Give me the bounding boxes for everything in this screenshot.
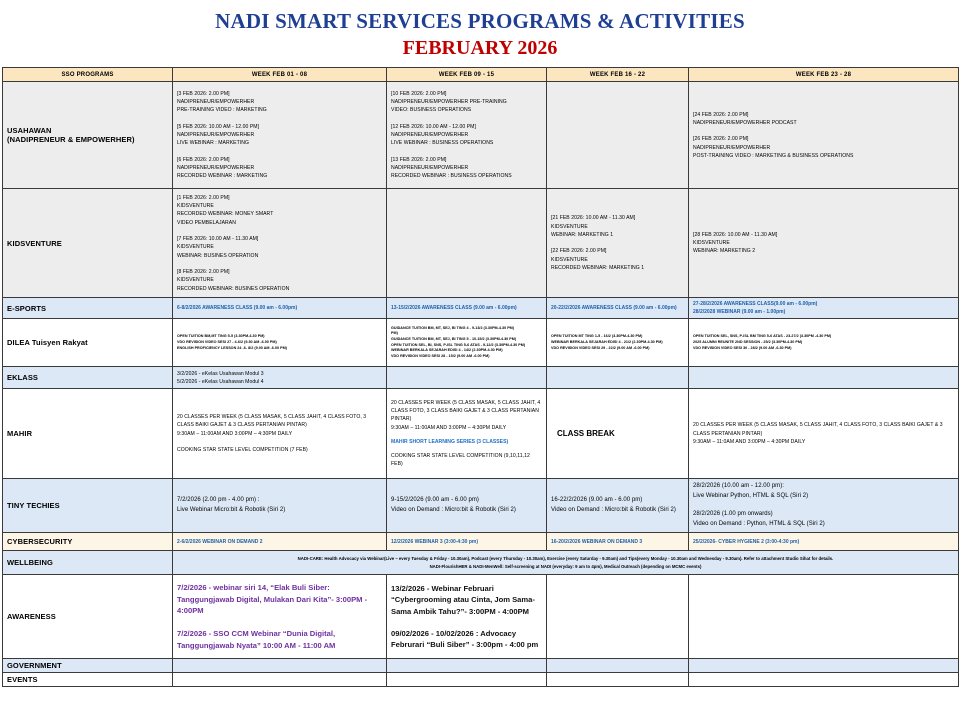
col-header-week-3: WEEK FEB 16 - 22	[547, 68, 689, 82]
cell-cybersecurity-week2: 12/2/2026 WEBINAR 3 (3:00-4:30 pm)	[387, 533, 547, 551]
table-row-dilea: DILEA Tuisyen Rakyat OPEN TUITION BM,MT …	[3, 319, 959, 367]
cell-dilea-week1: OPEN TUITION BM,MT TING 5-5 (3.30PM-4.30…	[173, 319, 387, 367]
cell-kidsventure-week4: [28 FEB 2026: 10.00 AM - 11.30 AM] KIDSV…	[689, 189, 959, 298]
cell-text: 12/2/2026 WEBINAR 3 (3:00-4:30 pm)	[391, 538, 542, 546]
table-row-kidsventure: KIDSVENTURE [1 FEB 2026: 2.00 PM] KIDSVE…	[3, 189, 959, 298]
activities-table: SSO PROGRAMS WEEK FEB 01 - 08 WEEK FEB 0…	[2, 67, 959, 687]
cell-tiny-techies-week3: 16-22/2/2026 (9.00 am - 6.00 pm) Video o…	[547, 479, 689, 533]
cell-text: [28 FEB 2026: 10.00 AM - 11.30 AM] KIDSV…	[693, 231, 954, 256]
cell-events-week2	[387, 673, 547, 687]
program-label-cybersecurity: CYBERSECURITY	[3, 533, 173, 551]
program-name-line2: (NADIPRENEUR & EMPOWERHER)	[7, 135, 168, 144]
cell-text: [21 FEB 2026: 10.00 AM - 11.30 AM] KIDSV…	[551, 214, 684, 272]
table-row-esports: E-SPORTS 6-8/2/2026 AWARENESS CLASS (9.0…	[3, 298, 959, 319]
cell-text: 25/2/2026- CYBER HYGIENE 2 (3:00-4:30 pm…	[693, 538, 954, 546]
cell-text: PM) GUIDANCE TUITION BM, MT, SEJ, BI TIN…	[391, 331, 542, 360]
schedule-page: NADI SMART SERVICES PROGRAMS & ACTIVITIE…	[0, 0, 960, 720]
cell-text-b: 7/2/2026 - SSO CCM Webinar “Dunia Digita…	[177, 628, 382, 652]
cell-mahir-week1: 20 CLASSES PER WEEK (5 CLASS MASAK, 5 CL…	[173, 389, 387, 479]
cell-eklass-week3	[547, 367, 689, 389]
program-label-government: GOVERNMENT	[3, 659, 173, 673]
page-title: NADI SMART SERVICES PROGRAMS & ACTIVITIE…	[0, 8, 960, 34]
page-subtitle: FEBRUARY 2026	[0, 35, 960, 61]
cell-cybersecurity-week1: 2-6/2/2026 WEBINAR ON DEMAND 2	[173, 533, 387, 551]
cell-usahawan-week2: [10 FEB 2026: 2.00 PM] NADIPRENEUR/EMPOW…	[387, 82, 547, 189]
cell-government-week1	[173, 659, 387, 673]
program-label-usahawan: USAHAWAN (NADIPRENEUR & EMPOWERHER)	[3, 82, 173, 189]
program-label-eklass: EKLASS	[3, 367, 173, 389]
cell-text-b: 09/02/2026 - 10/02/2026 : Advocacy Febru…	[391, 628, 542, 651]
cell-text: [10 FEB 2026: 2.00 PM] NADIPRENEUR/EMPOW…	[391, 90, 542, 181]
program-label-mahir: MAHIR	[3, 389, 173, 479]
program-name-line1: USAHAWAN	[7, 126, 168, 135]
cell-government-week4	[689, 659, 959, 673]
program-label-kidsventure: KIDSVENTURE	[3, 189, 173, 298]
cell-eklass-week4	[689, 367, 959, 389]
cell-mahir-week3: CLASS BREAK	[547, 389, 689, 479]
cell-events-week3	[547, 673, 689, 687]
program-label-dilea: DILEA Tuisyen Rakyat	[3, 319, 173, 367]
cell-text: 7/2/2026 (2.00 pm - 4.00 pm) : Live Webi…	[177, 496, 382, 515]
cell-text: [24 FEB 2026: 2.00 PM] NADIPRENEUR/EMPOW…	[693, 111, 954, 161]
table-row-eklass: EKLASS 3/2/2026 - eKelas Usahawan Modul …	[3, 367, 959, 389]
table-row-events: EVENTS	[3, 673, 959, 687]
cell-awareness-week4	[689, 575, 959, 659]
program-label-wellbeing: WELLBEING	[3, 551, 173, 575]
cell-text: [1 FEB 2026: 2.00 PM] KIDSVENTURE RECORD…	[177, 194, 382, 293]
cell-text: 9-15/2/2026 (9.00 am - 6.00 pm) Video on…	[391, 496, 542, 515]
cell-government-week2	[387, 659, 547, 673]
col-header-week-2: WEEK FEB 09 - 15	[387, 68, 547, 82]
col-header-week-1: WEEK FEB 01 - 08	[173, 68, 387, 82]
col-header-sso-programs: SSO PROGRAMS	[3, 68, 173, 82]
cell-tiny-techies-week2: 9-15/2/2026 (9.00 am - 6.00 pm) Video on…	[387, 479, 547, 533]
cell-cybersecurity-week4: 25/2/2026- CYBER HYGIENE 2 (3:00-4:30 pm…	[689, 533, 959, 551]
cell-esports-week3: 20-22/2/2026 AWARENESS CLASS (9.00 am - …	[547, 298, 689, 319]
cell-dilea-week4: OPEN TUITION SEL, SNS, P-ISL BM TING 5-6…	[689, 319, 959, 367]
cell-text: 3/2/2026 - eKelas Usahawan Modul 3 5/2/2…	[177, 370, 382, 387]
cell-awareness-week2: 13/2/2026 - Webinar Februari “Cybergroom…	[387, 575, 547, 659]
program-label-tiny-techies: TINY TECHIES	[3, 479, 173, 533]
table-row-wellbeing: WELLBEING NADI-CARE: Health Advocacy via…	[3, 551, 959, 575]
program-label-awareness: AWARENESS	[3, 575, 173, 659]
cell-mahir-week2: 20 CLASSES PER WEEK (5 CLASS MASAK, 5 CL…	[387, 389, 547, 479]
table-row-usahawan: USAHAWAN (NADIPRENEUR & EMPOWERHER) [3 F…	[3, 82, 959, 189]
cell-text: 20 CLASSES PER WEEK (5 CLASS MASAK, 5 CL…	[693, 421, 954, 446]
program-label-esports: E-SPORTS	[3, 298, 173, 319]
cell-text: 28/2/2026 (10.00 am - 12.00 pm): Live We…	[693, 482, 954, 529]
cell-text-a: 7/2/2026 - webinar siri 14, “Elak Buli S…	[177, 582, 382, 617]
table-row-mahir: MAHIR 20 CLASSES PER WEEK (5 CLASS MASAK…	[3, 389, 959, 479]
cell-text: CLASS BREAK	[551, 429, 684, 438]
cell-eklass-week1: 3/2/2026 - eKelas Usahawan Modul 3 5/2/2…	[173, 367, 387, 389]
cell-text: 20-22/2/2026 AWARENESS CLASS (9.00 am - …	[551, 304, 684, 312]
cell-dilea-week3: OPEN TUITION MT TING 1-5 - 16/2 (3.30PM-…	[547, 319, 689, 367]
cell-cybersecurity-week3: 16-20/2/2026 WEBINAR ON DEMAND 3	[547, 533, 689, 551]
col-header-week-4: WEEK FEB 23 - 28	[689, 68, 959, 82]
cell-esports-week1: 6-8/2/2026 AWARENESS CLASS (9.00 am - 6.…	[173, 298, 387, 319]
cell-text: NADI-CARE: Health Advocacy via Webinar(L…	[177, 555, 954, 570]
cell-text: OPEN TUITION SEL, SNS, P-ISL BM TING 5-6…	[693, 334, 954, 351]
cell-tiny-techies-week4: 28/2/2026 (10.00 am - 12.00 pm): Live We…	[689, 479, 959, 533]
cell-awareness-week1: 7/2/2026 - webinar siri 14, “Elak Buli S…	[173, 575, 387, 659]
cell-eklass-week2	[387, 367, 547, 389]
cell-text: 20 CLASSES PER WEEK (5 CLASS MASAK, 5 CL…	[177, 413, 382, 454]
cell-text-b: COOKING STAR STATE LEVEL COMPETITION (9,…	[391, 452, 542, 469]
cell-text: 2-6/2/2026 WEBINAR ON DEMAND 2	[177, 538, 382, 546]
cell-text: OPEN TUITION BM,MT TING 5-5 (3.30PM-4.30…	[177, 334, 382, 351]
cell-text: OPEN TUITION MT TING 1-5 - 16/2 (3.30PM-…	[551, 334, 684, 351]
cell-text: 6-8/2/2026 AWARENESS CLASS (9.00 am - 6.…	[177, 304, 382, 312]
cell-wellbeing-merged-note: NADI-CARE: Health Advocacy via Webinar(L…	[173, 551, 959, 575]
cell-usahawan-week1: [3 FEB 2026: 2.00 PM] NADIPRENEUR/EMPOWE…	[173, 82, 387, 189]
cell-text: [3 FEB 2026: 2.00 PM] NADIPRENEUR/EMPOWE…	[177, 90, 382, 181]
title-block: NADI SMART SERVICES PROGRAMS & ACTIVITIE…	[0, 0, 960, 61]
cell-esports-week4: 27-28/2/2026 AWARENESS CLASS(9.00 am - 6…	[689, 298, 959, 319]
cell-kidsventure-week1: [1 FEB 2026: 2.00 PM] KIDSVENTURE RECORD…	[173, 189, 387, 298]
table-row-cybersecurity: CYBERSECURITY 2-6/2/2026 WEBINAR ON DEMA…	[3, 533, 959, 551]
cell-usahawan-week3	[547, 82, 689, 189]
cell-usahawan-week4: [24 FEB 2026: 2.00 PM] NADIPRENEUR/EMPOW…	[689, 82, 959, 189]
cell-kidsventure-week2	[387, 189, 547, 298]
cell-kidsventure-week3: [21 FEB 2026: 10.00 AM - 11.30 AM] KIDSV…	[547, 189, 689, 298]
program-label-events: EVENTS	[3, 673, 173, 687]
cell-events-week1	[173, 673, 387, 687]
cell-events-week4	[689, 673, 959, 687]
cell-text-a: 20 CLASSES PER WEEK (5 CLASS MASAK, 5 CL…	[391, 399, 542, 432]
cell-mahir-week4: 20 CLASSES PER WEEK (5 CLASS MASAK, 5 CL…	[689, 389, 959, 479]
cell-text-highlight: MAHIR SHORT LEARNING SERIES (3 CLASSES)	[391, 438, 542, 446]
cell-text: 16-20/2/2026 WEBINAR ON DEMAND 3	[551, 538, 684, 546]
table-header-row: SSO PROGRAMS WEEK FEB 01 - 08 WEEK FEB 0…	[3, 68, 959, 82]
cell-tiny-techies-week1: 7/2/2026 (2.00 pm - 4.00 pm) : Live Webi…	[173, 479, 387, 533]
cell-text-a: 13/2/2026 - Webinar Februari “Cybergroom…	[391, 583, 542, 617]
cell-text: 16-22/2/2026 (9.00 am - 6.00 pm) Video o…	[551, 496, 684, 515]
cell-awareness-week3	[547, 575, 689, 659]
table-row-tiny-techies: TINY TECHIES 7/2/2026 (2.00 pm - 4.00 pm…	[3, 479, 959, 533]
cell-dilea-week2: GUIDANCE TUITION BM, MT, SEJ, BI TING 4 …	[387, 319, 547, 367]
cell-text: 27-28/2/2026 AWARENESS CLASS(9.00 am - 6…	[693, 300, 954, 316]
cell-government-week3	[547, 659, 689, 673]
cell-text: 13-15/2/2026 AWARENESS CLASS (9.00 am - …	[391, 304, 542, 312]
table-row-awareness: AWARENESS 7/2/2026 - webinar siri 14, “E…	[3, 575, 959, 659]
table-row-government: GOVERNMENT	[3, 659, 959, 673]
cell-esports-week2: 13-15/2/2026 AWARENESS CLASS (9.00 am - …	[387, 298, 547, 319]
